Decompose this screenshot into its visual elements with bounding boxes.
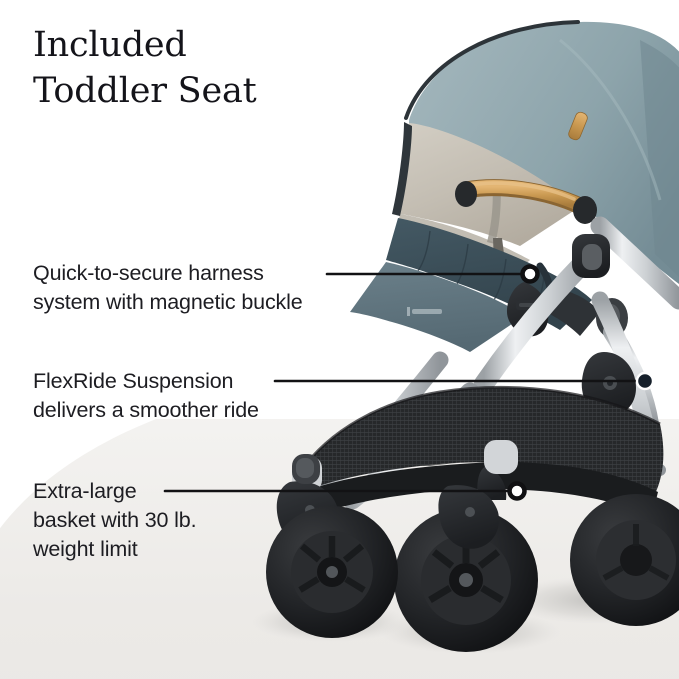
bumper-end-left <box>455 181 477 207</box>
callout-basket-line-1: Extra-large <box>33 477 383 506</box>
page-title: Included Toddler Seat <box>33 22 363 114</box>
callout-suspension-line-2: delivers a smoother ride <box>33 396 383 425</box>
frame-hinge <box>572 234 610 278</box>
callout-harness-line-2: system with magnetic buckle <box>33 288 383 317</box>
callout-basket-line-2: basket with 30 lb. <box>33 506 383 535</box>
callout-harness: Quick-to-secure harness system with magn… <box>33 259 383 317</box>
callout-suspension-line-1: FlexRide Suspension <box>33 367 383 396</box>
callout-basket: Extra-large basket with 30 lb. weight li… <box>33 477 383 565</box>
wheel-mount-rear <box>484 440 518 474</box>
page-title-line-1: Included <box>33 22 363 68</box>
infographic-canvas: Included Toddler Seat Quick-to-secure ha… <box>0 0 679 679</box>
page-title-line-2: Toddler Seat <box>33 68 363 114</box>
callout-harness-line-1: Quick-to-secure harness <box>33 259 383 288</box>
callout-basket-line-3: weight limit <box>33 535 383 564</box>
callout-suspension: FlexRide Suspension delivers a smoother … <box>33 367 383 425</box>
